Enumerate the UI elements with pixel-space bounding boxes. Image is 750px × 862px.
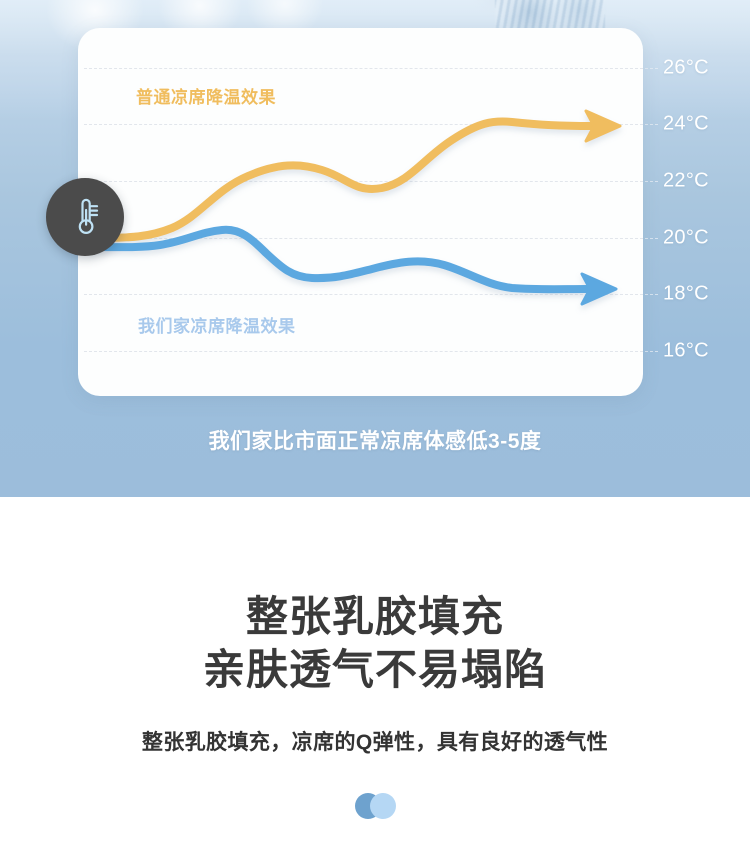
pagination-dots[interactable] (0, 793, 750, 819)
axis-tick-22: 22°C (663, 170, 709, 193)
gridline-16 (84, 351, 643, 352)
gridline-26 (84, 68, 643, 69)
temperature-axis: 26°C 24°C 22°C 20°C 18°C 16°C (663, 0, 750, 497)
thermometer-icon (68, 196, 102, 238)
section-subheadline: 整张乳胶填充，凉席的Q弹性，具有良好的透气性 (0, 726, 750, 756)
section-headline: 整张乳胶填充 亲肤透气不易塌陷 (0, 590, 750, 696)
thermometer-badge (46, 178, 124, 256)
axis-tick-18: 18°C (663, 283, 709, 306)
axis-tick-16: 16°C (663, 340, 709, 363)
axis-tick-20: 20°C (663, 227, 709, 250)
hero-caption: 我们家比市面正常凉席体感低3-5度 (0, 425, 750, 455)
gridline-22 (84, 181, 643, 182)
headline-line-1: 整张乳胶填充 (0, 590, 750, 643)
axis-tick-26: 26°C (663, 57, 709, 80)
axis-tick-24: 24°C (663, 113, 709, 136)
headline-line-2: 亲肤透气不易塌陷 (0, 643, 750, 696)
gridline-20 (84, 238, 643, 239)
gridline-18 (84, 294, 643, 295)
pagination-dot-inactive[interactable] (370, 793, 396, 819)
temperature-comparison-hero: 普通凉席降温效果 我们家凉席降温效果 26°C 24°C 22°C 20°C 1… (0, 0, 750, 497)
gridline-24 (84, 124, 643, 125)
series-label-ordinary: 普通凉席降温效果 (136, 83, 276, 108)
series-label-ours: 我们家凉席降温效果 (138, 312, 296, 337)
latex-filling-section: 整张乳胶填充 亲肤透气不易塌陷 整张乳胶填充，凉席的Q弹性，具有良好的透气性 (0, 497, 750, 862)
